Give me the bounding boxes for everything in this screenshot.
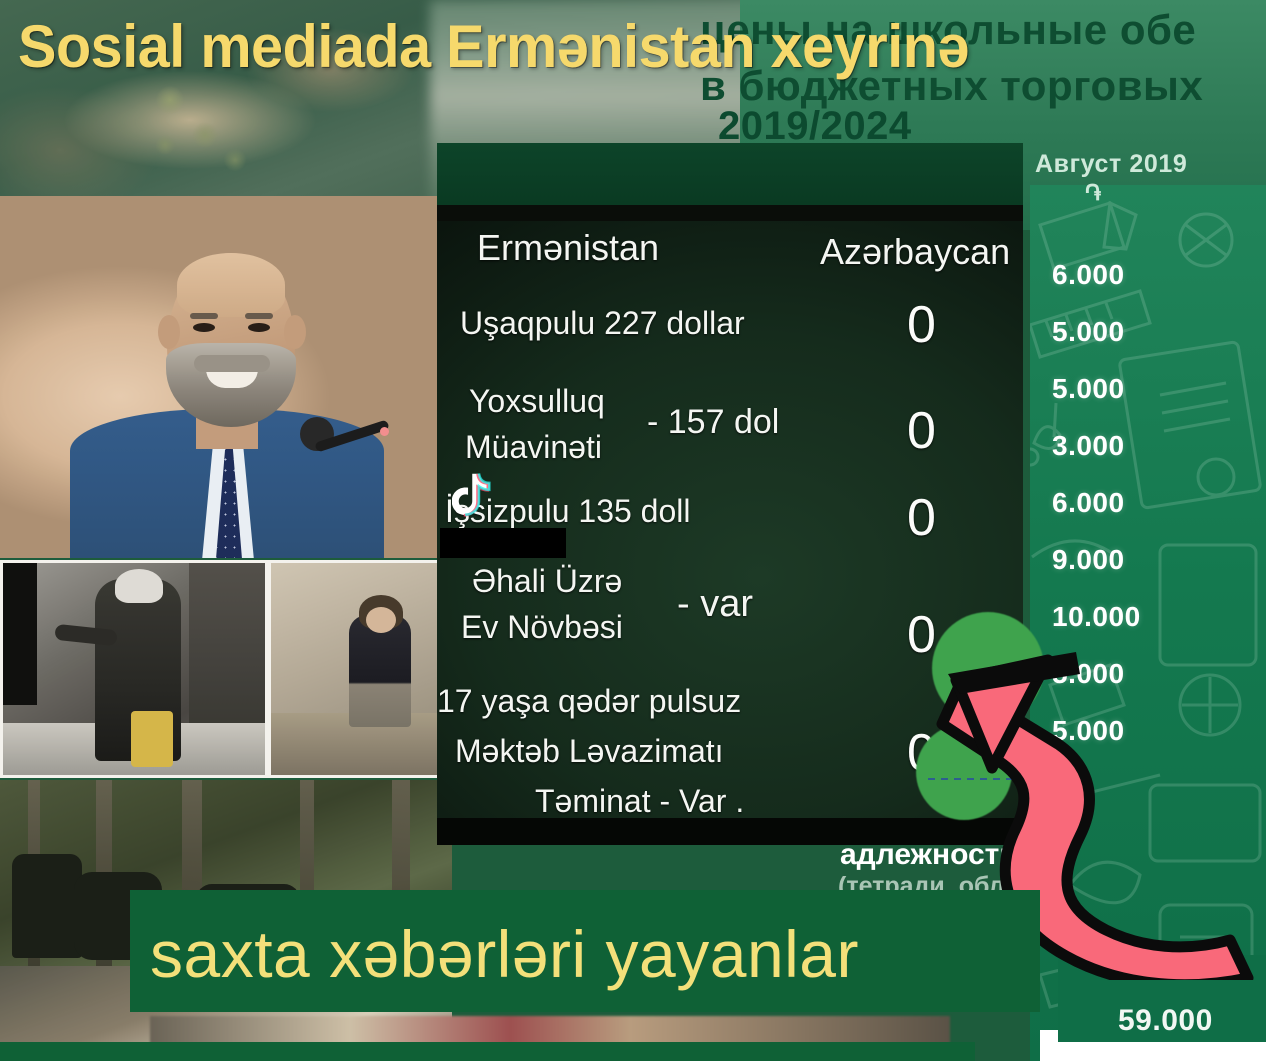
infographic-bottom-value: 59.000 <box>1118 1004 1213 1038</box>
eyebrow-left-shape <box>190 313 218 319</box>
footer-bottom-strip-white <box>1052 1042 1266 1061</box>
currency-symbol: ֏ <box>1085 180 1101 206</box>
table-row-label: 17 yaşa qədər pulsuz <box>437 683 741 720</box>
soldier-shape <box>12 854 82 958</box>
black-censor-bar <box>440 528 566 558</box>
ear-right-shape <box>284 315 306 349</box>
eye-left-shape <box>193 323 215 332</box>
microphone-indicator-light <box>380 427 389 436</box>
table-column-header-azerbaijan: Azərbaycan <box>820 231 1010 273</box>
table-row-label-second-line: Məktəb Ləvazimatı <box>455 733 724 770</box>
photo-elderly-person <box>0 560 268 778</box>
table-column-header-armenia: Ermənistan <box>477 227 659 269</box>
photo-smiling-man-portrait <box>62 231 392 558</box>
footer-bottom-strip <box>0 1042 975 1061</box>
right-white-edge <box>1040 1030 1058 1061</box>
person-hair-shape <box>115 569 163 603</box>
child-face-shape <box>366 607 396 633</box>
table-row-label: Uşaqpulu 227 dollar <box>460 305 745 342</box>
infographic-value: 5.000 <box>1052 360 1252 417</box>
table-row-extra: Təminat - Var . <box>535 783 744 820</box>
table-row-label: Əhali Üzrə <box>472 563 622 600</box>
infographic-value: 10.000 <box>1052 588 1252 645</box>
yellow-bag-shape <box>131 711 173 767</box>
forehead-shape <box>177 253 285 317</box>
table-row-value: 0 <box>907 401 936 461</box>
infographic-value: 9.000 <box>1052 531 1252 588</box>
photo-child-outdoors <box>268 560 452 778</box>
infographic-month-label: Август 2019 <box>1035 150 1187 179</box>
table-top-edge <box>437 205 1023 221</box>
infographic-value: 5.000 <box>1052 303 1252 360</box>
table-row-label: Yoxsulluq <box>469 383 605 420</box>
table-row-value: 0 <box>907 488 936 548</box>
ear-left-shape <box>158 315 180 349</box>
moustache-shape <box>194 355 270 372</box>
table-row-label-second-line: Ev Növbəsi <box>461 609 623 646</box>
tiktok-logo-icon <box>452 472 496 524</box>
infographic-value: 6.000 <box>1052 246 1252 303</box>
table-header-band <box>437 143 1023 205</box>
infographic-value: 6.000 <box>1052 474 1252 531</box>
infographic-value: 3.000 <box>1052 417 1252 474</box>
image-canvas: цены на школьные обе в бюджетных торговы… <box>0 0 1266 1061</box>
table-row-value: 0 <box>907 295 936 355</box>
table-row-label-second-line: Müavinəti <box>465 429 602 466</box>
headline-text: Sosial mediada Ermənistan xeyrinə <box>18 12 1218 81</box>
table-row-extra: - var <box>677 583 753 626</box>
footer-text: saxta xəbərləri yayanlar <box>150 916 1030 992</box>
eyebrow-right-shape <box>245 313 273 319</box>
dark-edge-shape <box>3 563 37 705</box>
table-row-extra: - 157 dol <box>647 403 779 442</box>
eye-right-shape <box>248 323 270 332</box>
